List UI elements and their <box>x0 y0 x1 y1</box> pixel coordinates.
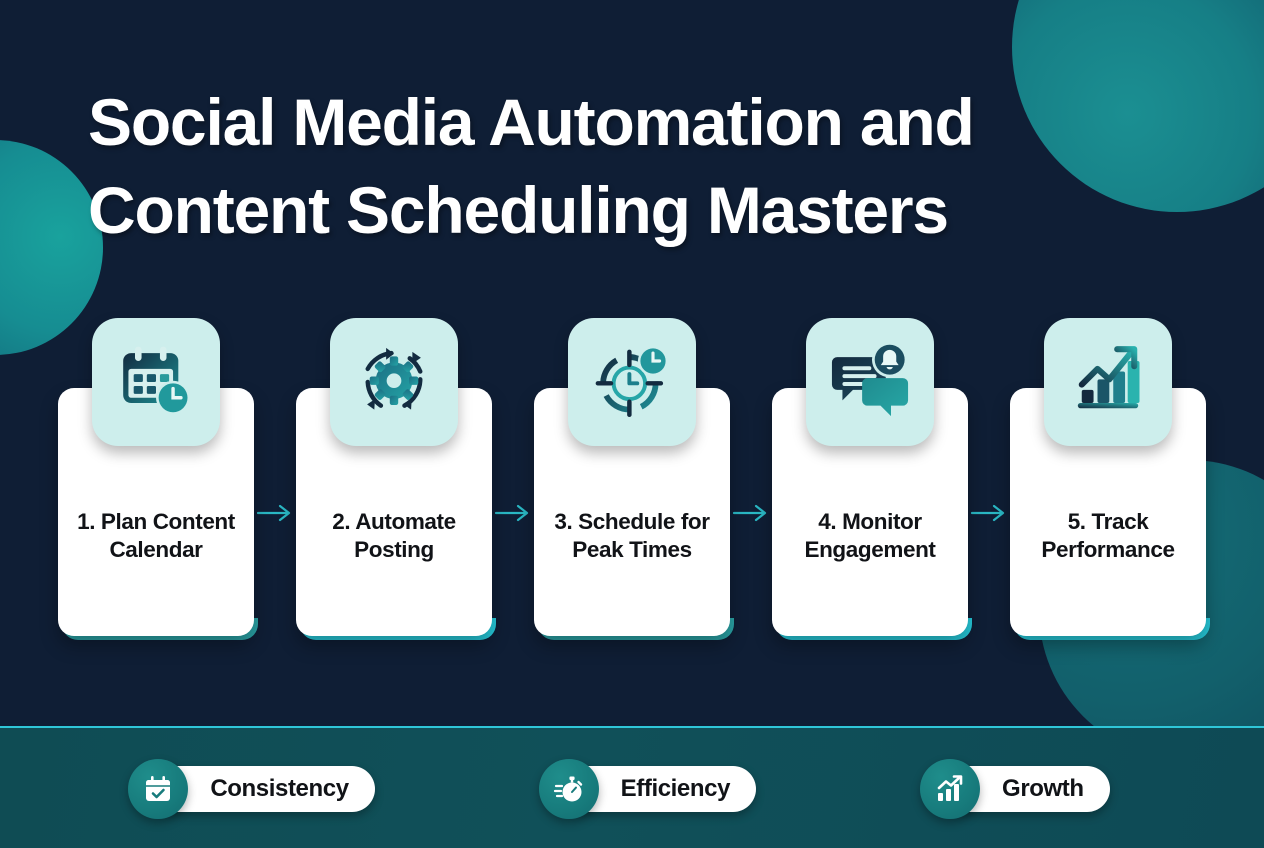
footer-badge-growth[interactable]: Growth <box>946 766 1110 812</box>
footer-badges: Consistency Efficiency <box>0 728 1264 848</box>
arrow-right-icon-4 <box>968 318 1010 648</box>
title-line-1: Social Media Automation and <box>88 78 1198 166</box>
chat-bell-icon <box>806 318 934 446</box>
arrow-right-icon-1 <box>254 318 296 648</box>
step-label-4: 4. Monitor Engagement <box>772 508 968 564</box>
step-label-3: 3. Schedule for Peak Times <box>534 508 730 564</box>
step-card-1[interactable]: 1. Plan Content Calendar <box>58 318 254 648</box>
step-label-1: 1. Plan Content Calendar <box>58 508 254 564</box>
stopwatch-icon <box>539 759 599 819</box>
step-card-4[interactable]: 4. Monitor Engagement <box>772 318 968 648</box>
step-card-5[interactable]: 5. Track Performance <box>1010 318 1206 648</box>
footer-badge-label: Consistency <box>210 775 348 803</box>
bar-chart-arrow-icon <box>920 759 980 819</box>
footer-badge-label: Growth <box>1002 775 1084 803</box>
footer-band: Consistency Efficiency <box>0 726 1264 848</box>
footer-badge-efficiency[interactable]: Efficiency <box>565 766 756 812</box>
growth-chart-icon <box>1044 318 1172 446</box>
arrow-right-icon-2 <box>492 318 534 648</box>
calendar-clock-icon <box>92 318 220 446</box>
page-title: Social Media Automation and Content Sche… <box>88 78 1198 254</box>
title-line-2: Content Scheduling Masters <box>88 166 1198 254</box>
gear-cycle-icon <box>330 318 458 446</box>
step-card-3[interactable]: 3. Schedule for Peak Times <box>534 318 730 648</box>
arrow-right-icon-3 <box>730 318 772 648</box>
footer-badge-label: Efficiency <box>621 775 730 803</box>
target-clock-icon <box>568 318 696 446</box>
footer-badge-consistency[interactable]: Consistency <box>154 766 374 812</box>
step-label-2: 2. Automate Posting <box>296 508 492 564</box>
step-card-2[interactable]: 2. Automate Posting <box>296 318 492 648</box>
infographic-poster: Social Media Automation and Content Sche… <box>0 0 1264 848</box>
step-label-5: 5. Track Performance <box>1010 508 1206 564</box>
calendar-check-icon <box>128 759 188 819</box>
steps-row: 1. Plan Content Calendar <box>0 318 1264 653</box>
